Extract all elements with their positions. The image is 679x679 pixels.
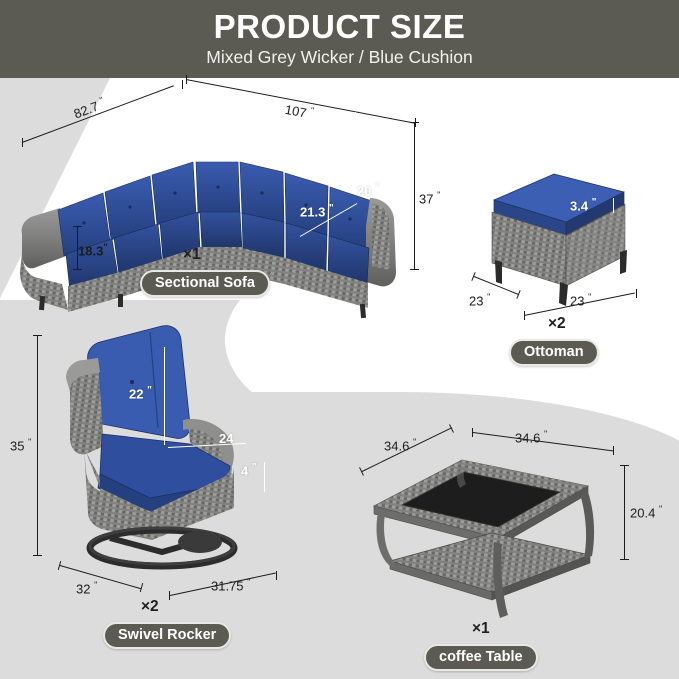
rocker-width-label: 31.75 " xyxy=(211,577,250,593)
product-size-infographic: PRODUCT SIZE Mixed Grey Wicker / Blue Cu… xyxy=(0,0,679,679)
header-bar: PRODUCT SIZE Mixed Grey Wicker / Blue Cu… xyxy=(0,0,679,78)
coffee-table-label: coffee Table xyxy=(424,644,538,671)
sectional-sofa-label: Sectional Sofa xyxy=(140,270,270,297)
swivel-rocker-label: Swivel Rocker xyxy=(103,622,231,649)
ottoman-figure xyxy=(462,160,662,310)
sectional-sofa-quantity: ×1 xyxy=(183,246,201,264)
ottoman-label: Ottoman xyxy=(509,339,599,366)
ottoman-depth-label: 23 " xyxy=(469,292,490,308)
table-depth-label: 34.6 " xyxy=(384,437,416,453)
rocker-depth-label: 32 " xyxy=(76,580,97,596)
sofa-seat-depth-label: 21.3 " xyxy=(300,203,334,219)
page-title: PRODUCT SIZE xyxy=(214,10,466,45)
table-height-label: 20.4 " xyxy=(630,504,662,520)
table-width-label: 34.6 " xyxy=(515,429,547,445)
page-subtitle: Mixed Grey Wicker / Blue Cushion xyxy=(206,47,472,68)
sofa-total-height-label: 37 " xyxy=(419,190,440,206)
coffee-table-figure xyxy=(352,438,622,638)
rocker-total-height-label: 35 " xyxy=(10,437,31,453)
ottoman-illustration xyxy=(462,160,662,310)
coffee-table-quantity: ×1 xyxy=(472,620,490,638)
swivel-rocker-quantity: ×2 xyxy=(141,598,159,616)
swivel-rocker-figure xyxy=(40,316,290,586)
ottoman-quantity: ×2 xyxy=(548,315,566,333)
swivel-rocker-illustration xyxy=(40,316,290,586)
rocker-seat-width-label: 24 xyxy=(219,431,233,446)
ottoman-thickness-label: 3.4 " xyxy=(570,197,596,213)
rocker-seat-thickness-label: 4 " xyxy=(241,462,257,478)
sofa-back-height-label: 20 " xyxy=(357,182,380,198)
coffee-table-illustration xyxy=(352,438,622,638)
sofa-seat-height-label: 18.3" xyxy=(78,242,108,258)
rocker-back-height-label: 22 " xyxy=(129,385,152,401)
ottoman-width-label: 23 " xyxy=(570,292,591,308)
